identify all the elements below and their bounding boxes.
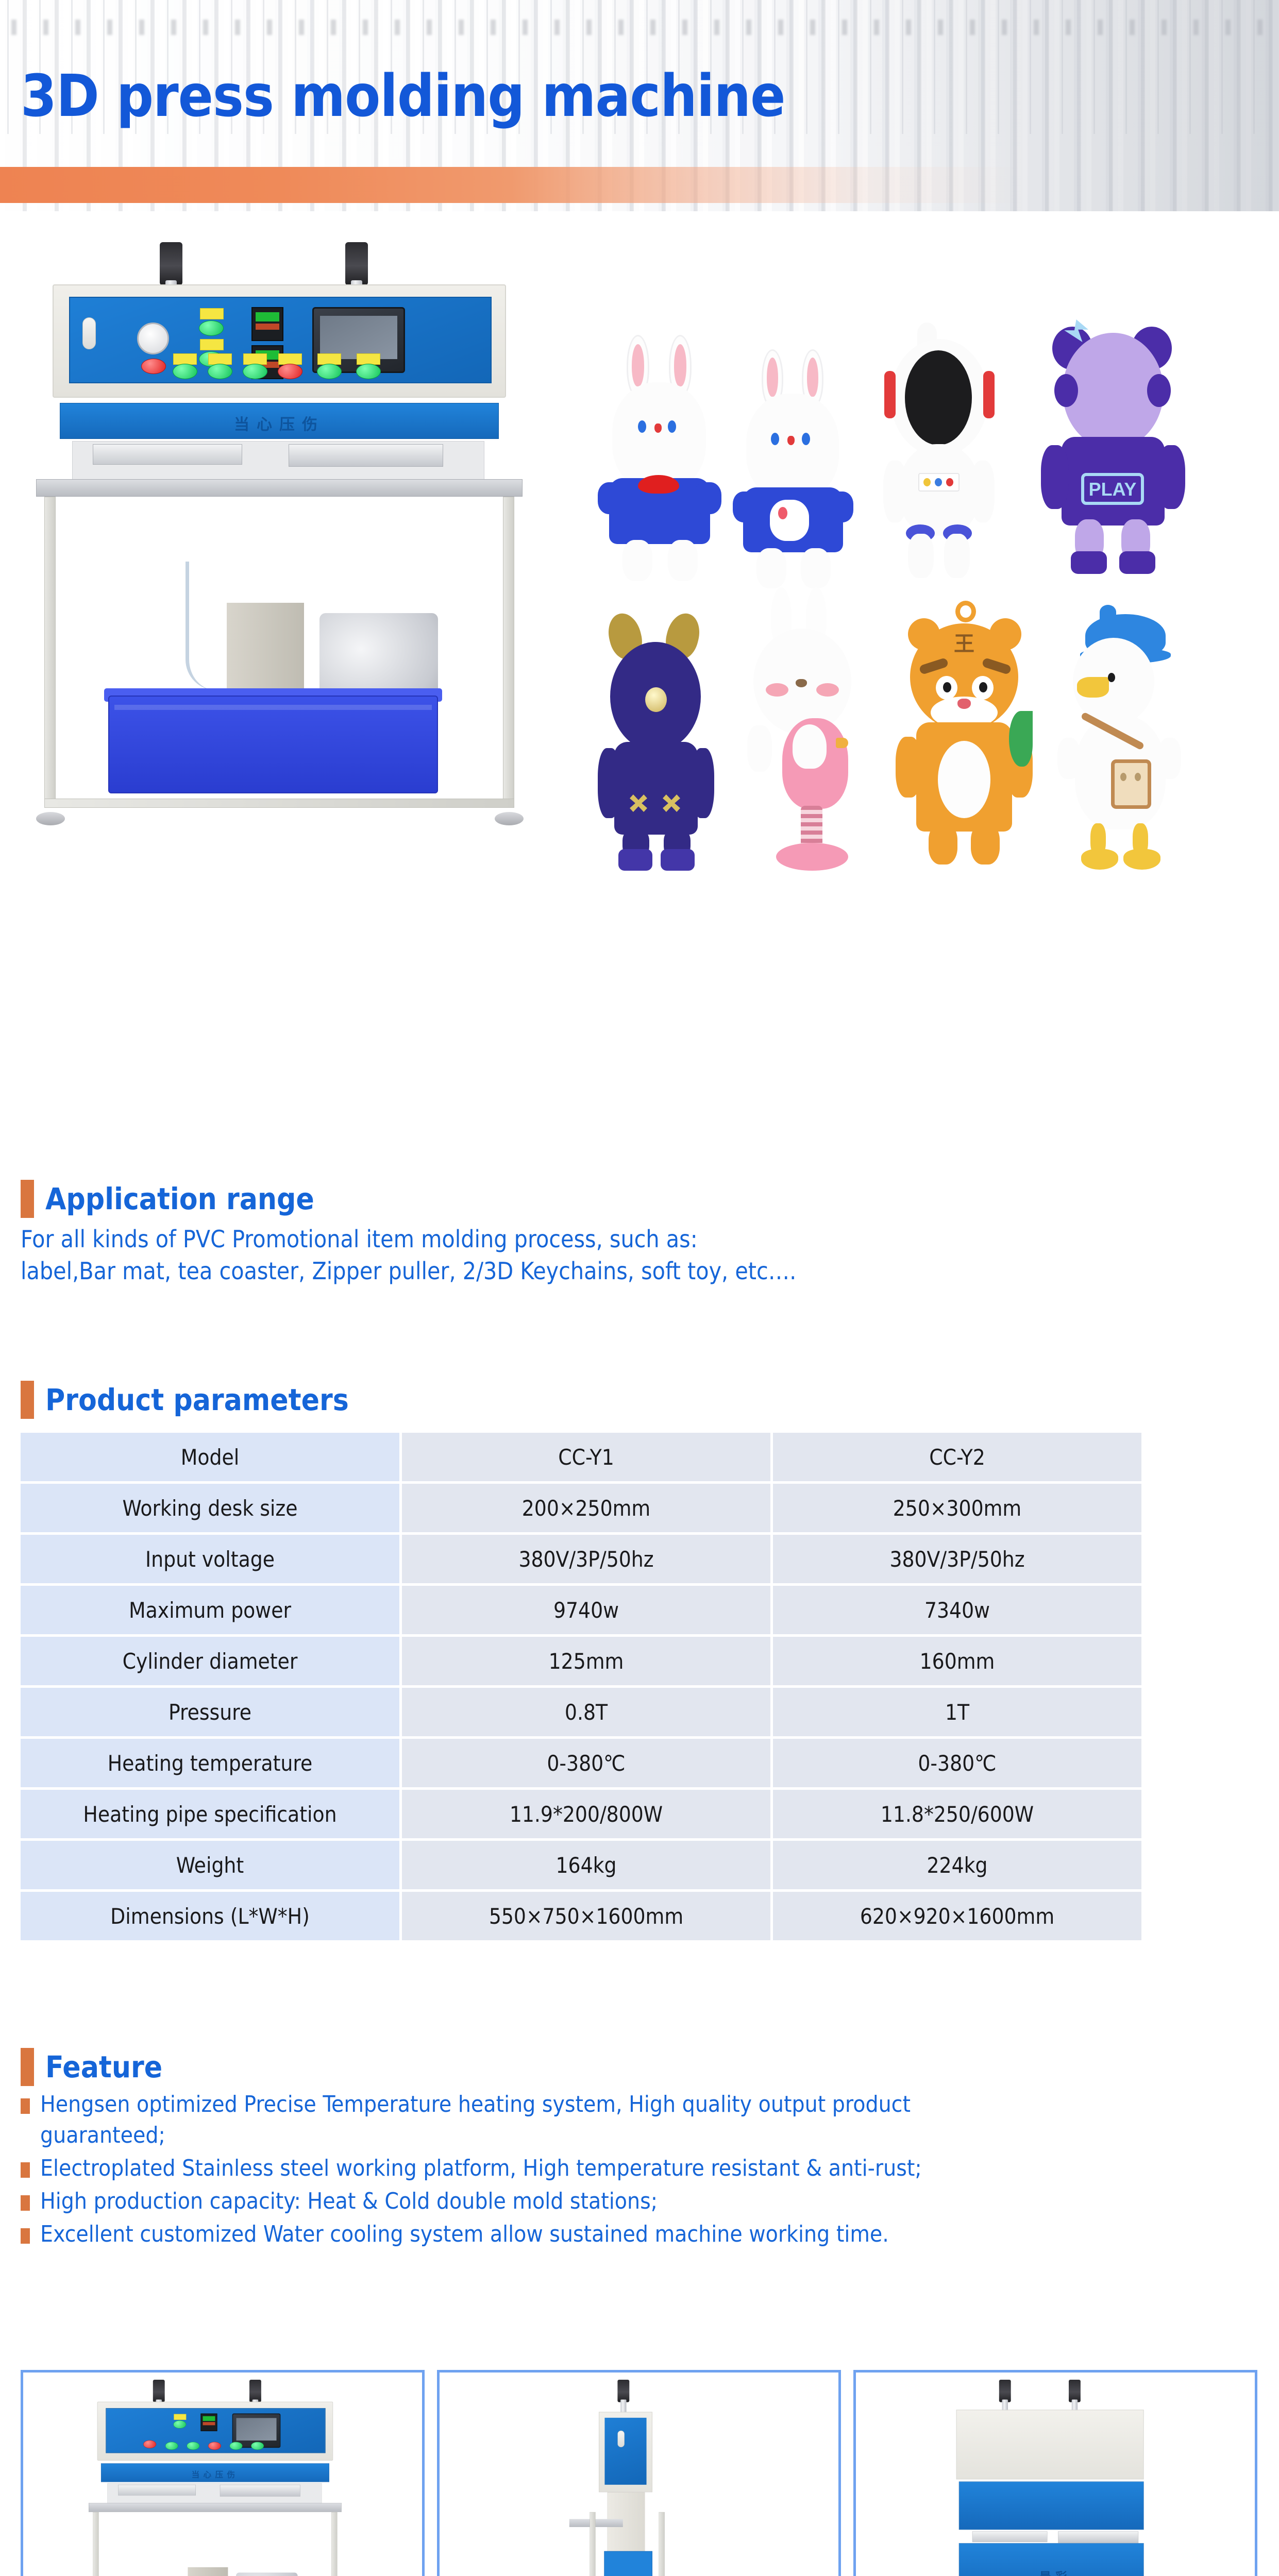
application-text-line-1: For all kinds of PVC Promotional item mo… — [21, 1223, 1279, 1255]
spec-value-cc-y2: 250×300mm — [773, 1484, 1141, 1532]
spec-value-cc-y2: 160mm — [773, 1637, 1141, 1685]
toy-white-rabbit-print-shirt — [733, 349, 872, 581]
spec-value-cc-y1: 200×250mm — [402, 1484, 770, 1532]
toy-purple-play-bear: PLAY — [1036, 309, 1190, 577]
spec-value-cc-y1: 11.9*200/800W — [402, 1790, 770, 1838]
bullet-icon — [21, 2228, 30, 2244]
sample-products-gallery: PLAY — [587, 273, 1257, 938]
toy-play-text: PLAY — [1081, 473, 1144, 505]
spec-value-cc-y2: 620×920×1600mm — [773, 1892, 1141, 1940]
feature-list: Hengsen optimized Precise Temperature he… — [21, 2089, 1279, 2250]
table-row: ModelCC-Y1CC-Y2 — [21, 1433, 1141, 1481]
table-row: Working desk size200×250mm250×300mm — [21, 1484, 1141, 1532]
bullet-icon — [21, 2098, 30, 2114]
gallery-image-side-view — [502, 2380, 776, 2576]
machine-control-cabinet — [53, 284, 506, 398]
spec-value-cc-y1: 0.8T — [402, 1688, 770, 1736]
feature-text: Hengsen optimized Precise Temperature he… — [40, 2089, 1019, 2151]
water-tank-part — [108, 696, 438, 793]
product-detail-page: 3D press molding machine — [0, 0, 1279, 2576]
hero-orange-accent-bar — [0, 167, 1279, 203]
spec-label: Input voltage — [21, 1535, 399, 1583]
toy-tiger-forehead-mark: 王 — [952, 633, 976, 655]
bullet-icon — [21, 2195, 30, 2211]
table-row: Dimensions (L*W*H)550×750×1600mm620×920×… — [21, 1892, 1141, 1940]
section-accent-bar — [21, 1381, 34, 1419]
spec-value-cc-y2: 380V/3P/50hz — [773, 1535, 1141, 1583]
spec-value-cc-y2: 11.8*250/600W — [773, 1790, 1141, 1838]
spec-label: Maximum power — [21, 1586, 399, 1634]
specifications-table: ModelCC-Y1CC-Y2Working desk size200×250m… — [18, 1430, 1144, 1943]
section-title: Feature — [45, 2048, 162, 2086]
spec-value-cc-y1: CC-Y1 — [402, 1433, 770, 1481]
toy-orange-tiger: 王 — [891, 601, 1041, 869]
feature-text: Electroplated Stainless steel working pl… — [40, 2153, 922, 2184]
list-item: Excellent customized Water cooling syste… — [21, 2219, 1279, 2250]
section-accent-bar — [21, 2048, 34, 2086]
gallery-item-1[interactable]: 当心压伤 — [21, 2370, 425, 2576]
section-title: Application range — [45, 1180, 314, 1218]
spec-value-cc-y2: 224kg — [773, 1841, 1141, 1889]
bullet-icon — [21, 2162, 30, 2178]
toy-navy-bear — [598, 613, 737, 871]
spec-value-cc-y1: 164kg — [402, 1841, 770, 1889]
product-showcase: 当心压伤 — [0, 211, 1279, 1139]
pressure-gauge-icon — [137, 323, 169, 354]
machine-operation-panel — [69, 297, 492, 383]
hero-banner: 3D press molding machine — [0, 0, 1279, 211]
hot-press-plate-part — [289, 444, 443, 467]
table-row: Cylinder diameter125mm160mm — [21, 1637, 1141, 1685]
application-range-heading: Application range — [21, 1180, 1279, 1218]
table-row: Heating temperature0-380℃0-380℃ — [21, 1739, 1141, 1787]
table-row: Heating pipe specification11.9*200/800W1… — [21, 1790, 1141, 1838]
spec-label: Weight — [21, 1841, 399, 1889]
spec-value-cc-y2: 1T — [773, 1688, 1141, 1736]
table-row: Maximum power9740w7340w — [21, 1586, 1141, 1634]
gallery-item-2[interactable] — [437, 2370, 841, 2576]
spec-value-cc-y1: 125mm — [402, 1637, 770, 1685]
toy-white-astronaut — [876, 323, 1015, 580]
machine-safety-guard: 当心压伤 — [60, 403, 499, 439]
guard-warning-label: 当心压伤 — [60, 412, 498, 434]
feature-text: High production capacity: Heat & Cold do… — [40, 2186, 658, 2217]
list-item: Electroplated Stainless steel working pl… — [21, 2153, 1279, 2184]
table-row: Pressure0.8T1T — [21, 1688, 1141, 1736]
application-text-line-2: label,Bar mat, tea coaster, Zipper pulle… — [21, 1255, 1279, 1287]
page-title: 3D press molding machine — [21, 63, 785, 130]
panel-switch — [82, 317, 96, 349]
list-item: High production capacity: Heat & Cold do… — [21, 2186, 1279, 2217]
spec-label: Heating temperature — [21, 1739, 399, 1787]
table-row: Input voltage380V/3P/50hz380V/3P/50hz — [21, 1535, 1141, 1583]
cold-press-plate-part — [93, 444, 242, 465]
spec-value-cc-y1: 550×750×1600mm — [402, 1892, 770, 1940]
spec-value-cc-y2: 7340w — [773, 1586, 1141, 1634]
spec-label: Dimensions (L*W*H) — [21, 1892, 399, 1940]
product-parameters-heading: Product parameters — [21, 1381, 1279, 1419]
main-product-image: 当心压伤 — [31, 242, 557, 1046]
spec-value-cc-y1: 9740w — [402, 1586, 770, 1634]
feature-text: Excellent customized Water cooling syste… — [40, 2219, 889, 2250]
feature-heading: Feature — [21, 2048, 1279, 2086]
gallery-image-angled-view: 晨彩 — [919, 2380, 1192, 2576]
feature-section: Feature Hengsen optimized Precise Temper… — [0, 2048, 1279, 2252]
toy-white-duck-blue-cap — [1051, 605, 1196, 873]
working-desk — [36, 479, 523, 497]
spec-label: Working desk size — [21, 1484, 399, 1532]
product-parameters-section: Product parameters ModelCC-Y1CC-Y2Workin… — [0, 1381, 1279, 1943]
toy-rabbit-on-pink-spring — [738, 587, 882, 876]
spec-label: Pressure — [21, 1688, 399, 1736]
section-accent-bar — [21, 1180, 34, 1218]
spec-value-cc-y2: 0-380℃ — [773, 1739, 1141, 1787]
image-gallery: 当心压伤 — [21, 2370, 1257, 2576]
list-item: Hengsen optimized Precise Temperature he… — [21, 2089, 1279, 2151]
gallery-item-3[interactable]: 晨彩 — [853, 2370, 1257, 2576]
spec-label: Cylinder diameter — [21, 1637, 399, 1685]
spec-value-cc-y1: 0-380℃ — [402, 1739, 770, 1787]
spec-label: Heating pipe specification — [21, 1790, 399, 1838]
toy-white-rabbit-bowtie — [598, 335, 737, 577]
spec-label: Model — [21, 1433, 399, 1481]
gallery-image-front-view: 当心压伤 — [86, 2380, 359, 2576]
table-row: Weight164kg224kg — [21, 1841, 1141, 1889]
spec-value-cc-y1: 380V/3P/50hz — [402, 1535, 770, 1583]
section-title: Product parameters — [45, 1381, 349, 1419]
application-range-section: Application range For all kinds of PVC P… — [0, 1180, 1279, 1287]
spec-value-cc-y2: CC-Y2 — [773, 1433, 1141, 1481]
